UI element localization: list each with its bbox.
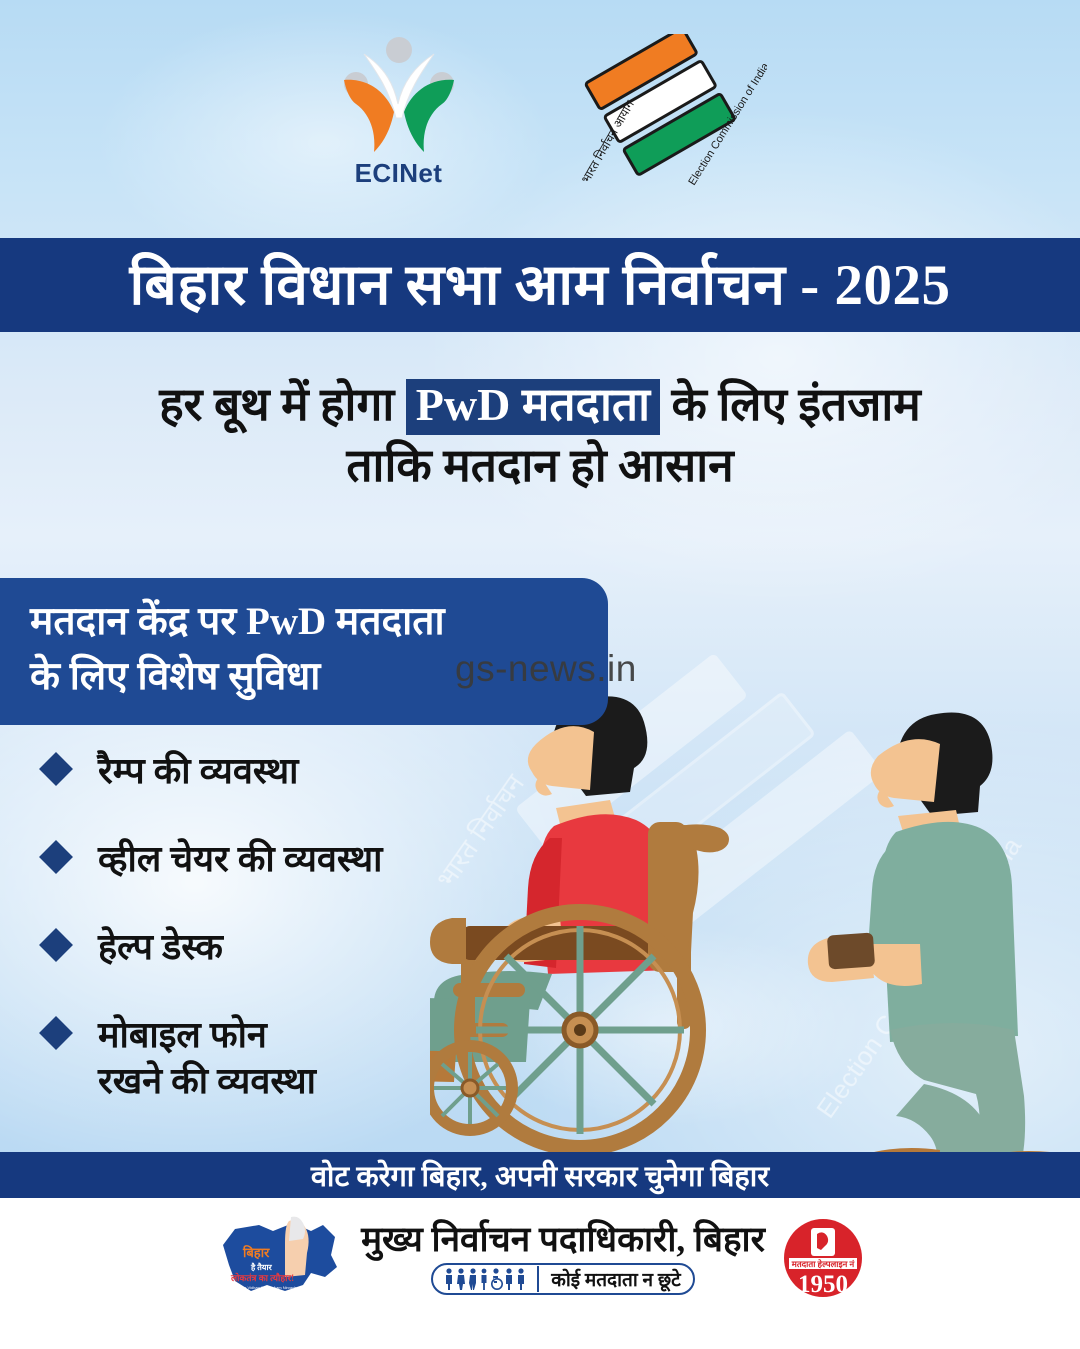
title-banner: बिहार विधान सभा आम निर्वाचन - 2025 xyxy=(0,238,1080,332)
poster-root: ECINet भारत निर्वाचन आयोग Election Commi… xyxy=(0,0,1080,1349)
subheading-line-1: मतदान केंद्र पर PwD मतदाता xyxy=(30,594,580,649)
list-item: मोबाइल फोन रखने की व्यवस्था xyxy=(44,1012,514,1104)
headline-part-after: के लिए इंतजाम xyxy=(660,379,921,430)
ecinet-tricolor-people-icon xyxy=(334,34,464,154)
ceo-tagline-badge: कोई मतदाता न छूटे xyxy=(431,1263,695,1295)
footer: बिहार है तैयार लोकतंत्र का त्यौहार! Biha… xyxy=(0,1198,1080,1349)
diamond-bullet-icon xyxy=(39,928,73,962)
headline-part-before: हर बूथ में होगा xyxy=(159,379,406,430)
bihar-map-inked-finger-icon: बिहार है तैयार लोकतंत्र का त्यौहार! Biha… xyxy=(215,1215,345,1301)
eci-logo: भारत निर्वाचन आयोग Election Commission o… xyxy=(562,34,767,199)
eci-logo-hindi-text: भारत निर्वाचन आयोग xyxy=(578,98,637,186)
facilities-list: रैम्प की व्यवस्था व्हील चेयर की व्यवस्था… xyxy=(44,748,514,1146)
ceo-title: मुख्य निर्वाचन पदाधिकारी, बिहार xyxy=(361,1222,765,1257)
svg-text:Bihar Vidhan Sabha Aam Nirvach: Bihar Vidhan Sabha Aam Nirvachan - 2025 xyxy=(237,1285,314,1290)
facility-label: मोबाइल फोन रखने की व्यवस्था xyxy=(98,1012,316,1104)
ecinet-logo: ECINet xyxy=(314,34,484,189)
ecinet-label: ECINet xyxy=(355,158,443,189)
title-text: बिहार विधान सभा आम निर्वाचन - 2025 xyxy=(130,257,951,314)
diamond-bullet-icon xyxy=(39,840,73,874)
facility-label: व्हील चेयर की व्यवस्था xyxy=(98,836,383,882)
bihar-logo-text-3: लोकतंत्र का त्यौहार! xyxy=(230,1272,294,1283)
slogan-text: वोट करेगा बिहार, अपनी सरकार चुनेगा बिहार xyxy=(311,1156,769,1195)
logo-row: ECINet भारत निर्वाचन आयोग Election Commi… xyxy=(0,34,1080,214)
slogan-bar: वोट करेगा बिहार, अपनी सरकार चुनेगा बिहार xyxy=(0,1152,1080,1198)
diamond-bullet-icon xyxy=(39,752,73,786)
accessibility-people-icons xyxy=(433,1267,537,1291)
helpline-number-text: 1950 xyxy=(798,1271,848,1298)
headline-line-1: हर बूथ में होगा PwD मतदाता के लिए इंतजाम xyxy=(0,375,1080,436)
election-commission-of-india-icon: भारत निर्वाचन आयोग Election Commission o… xyxy=(562,34,767,199)
ceo-block: मुख्य निर्वाचन पदाधिकारी, बिहार xyxy=(361,1222,765,1295)
headline-highlight: PwD मतदाता xyxy=(406,379,660,435)
facility-label: हेल्प डेस्क xyxy=(98,924,223,970)
bihar-logo-text-1: बिहार xyxy=(242,1245,270,1260)
bihar-logo-text-2: है तैयार xyxy=(250,1262,273,1272)
headline: हर बूथ में होगा PwD मतदाता के लिए इंतजाम… xyxy=(0,375,1080,496)
helpline-hindi-text: मतदाता हेल्पलाइन नं xyxy=(791,1259,856,1269)
facility-label: रैम्प की व्यवस्था xyxy=(98,748,298,794)
headline-line-2: ताकि मतदान हो आसान xyxy=(0,436,1080,497)
list-item: रैम्प की व्यवस्था xyxy=(44,748,514,794)
diamond-bullet-icon xyxy=(39,1016,73,1050)
voter-helpline-1950-icon: मतदाता हेल्पलाइन नं 1950 xyxy=(781,1216,865,1300)
site-watermark: gs-news.in xyxy=(455,648,637,690)
ceo-tagline: कोई मतदाता न छूटे xyxy=(539,1266,693,1292)
footer-logo-row: बिहार है तैयार लोकतंत्र का त्यौहार! Biha… xyxy=(0,1212,1080,1304)
list-item: व्हील चेयर की व्यवस्था xyxy=(44,836,514,882)
list-item: हेल्प डेस्क xyxy=(44,924,514,970)
